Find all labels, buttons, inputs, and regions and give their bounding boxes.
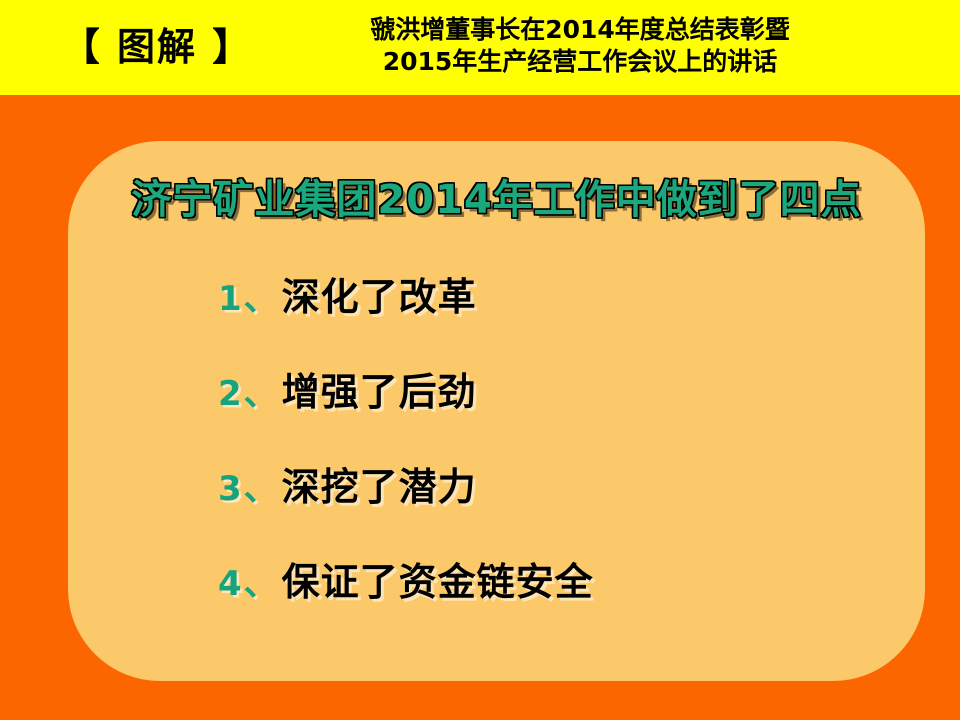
- header-title-line-2: 2015年生产经营工作会议上的讲话: [280, 46, 880, 78]
- list-item: 4 、 保证了资金链安全: [218, 551, 918, 646]
- card-heading: 济宁矿业集团2014年工作中做到了四点: [68, 167, 925, 225]
- list-item-separator: 、: [244, 366, 278, 415]
- list-item-label: 增强了后劲: [282, 361, 477, 416]
- list-item-label: 深化了改革: [282, 266, 477, 321]
- list-item-separator: 、: [244, 461, 278, 510]
- slide-canvas: 【 图解 】 虢洪增董事长在2014年度总结表彰暨 2015年生产经营工作会议上…: [0, 0, 960, 720]
- list-item-separator: 、: [244, 556, 278, 605]
- list-item: 2 、 增强了后劲: [218, 361, 918, 456]
- header-band: 【 图解 】 虢洪增董事长在2014年度总结表彰暨 2015年生产经营工作会议上…: [0, 0, 960, 95]
- bullet-list: 1 、 深化了改革 2 、 增强了后劲 3 、 深挖了潜力 4 、 保证了资金链…: [218, 266, 918, 646]
- list-item-number: 3: [218, 469, 242, 509]
- list-item: 3 、 深挖了潜力: [218, 456, 918, 551]
- list-item-label: 深挖了潜力: [282, 456, 477, 511]
- content-card: 济宁矿业集团2014年工作中做到了四点 1 、 深化了改革 2 、 增强了后劲 …: [68, 141, 925, 681]
- list-item-number: 1: [218, 279, 242, 319]
- list-item-label: 保证了资金链安全: [282, 551, 594, 606]
- list-item-separator: 、: [244, 271, 278, 320]
- header-title: 虢洪增董事长在2014年度总结表彰暨 2015年生产经营工作会议上的讲话: [280, 14, 880, 78]
- list-item-number: 2: [218, 374, 242, 414]
- header-label-tag: 【 图解 】: [52, 18, 262, 76]
- list-item: 1 、 深化了改革: [218, 266, 918, 361]
- list-item-number: 4: [218, 564, 242, 604]
- header-title-line-1: 虢洪增董事长在2014年度总结表彰暨: [280, 14, 880, 46]
